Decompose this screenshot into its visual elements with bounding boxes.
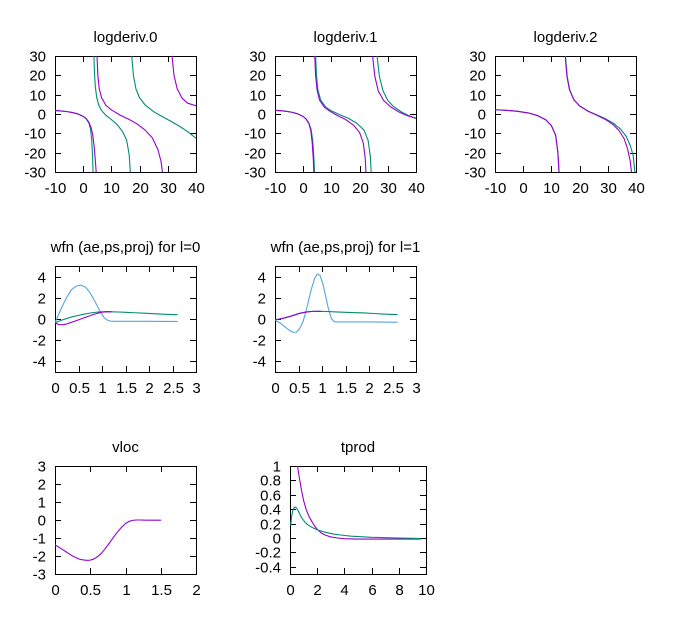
x-tick-label: -10 <box>265 180 287 197</box>
x-tick-label: 2.5 <box>163 380 184 397</box>
curve-all-electron <box>316 56 372 172</box>
y-tick-label: -2 <box>33 333 46 350</box>
curve-all-electron <box>94 56 130 172</box>
x-tick-label: 0.5 <box>289 380 310 397</box>
x-tick-label: 20 <box>132 180 149 197</box>
curve-all-electron <box>377 56 416 118</box>
y-tick-label: 20 <box>249 68 266 85</box>
x-tick-label: 0 <box>51 582 59 599</box>
plot-panel-logderiv0: logderiv.0-100102030403020100-10-20-30 <box>0 16 236 206</box>
panel-title-tprod: tprod <box>341 439 375 456</box>
y-tick-label: -20 <box>464 146 486 163</box>
x-tick-label: 20 <box>352 180 369 197</box>
y-tick-label: -3 <box>33 567 46 584</box>
x-tick-label: 30 <box>380 180 397 197</box>
y-tick-label: 20 <box>29 68 46 85</box>
curve-pseudo <box>315 56 366 172</box>
x-tick-label: 40 <box>628 180 645 197</box>
x-tick-label: 0.5 <box>80 582 101 599</box>
x-tick-label: 0 <box>271 380 279 397</box>
curves-group <box>275 56 416 172</box>
y-tick-label: 30 <box>469 49 486 66</box>
x-tick-label: 1 <box>318 380 326 397</box>
y-tick-label: -4 <box>253 354 266 371</box>
curves-group <box>291 466 421 539</box>
plot-panel-wfn0: wfn (ae,ps,proj) for l=000.511.522.53420… <box>0 226 236 406</box>
y-tick-label: 10 <box>249 88 266 105</box>
y-tick-label: 10 <box>469 88 486 105</box>
y-tick-label: 30 <box>29 49 46 66</box>
plot-panel-logderiv2: logderiv.2-100102030403020100-10-20-30 <box>440 16 676 206</box>
y-tick-label: -2 <box>253 333 266 350</box>
y-tick-label: 1 <box>38 495 46 512</box>
plot-frame <box>276 57 417 173</box>
curve-tprod-purple <box>297 466 420 539</box>
x-tick-label: 2.5 <box>383 380 404 397</box>
curves-group <box>55 520 161 560</box>
curve-all-electron <box>566 56 635 172</box>
curve-pseudo <box>172 56 196 106</box>
panel-title-wfn1: wfn (ae,ps,proj) for l=1 <box>270 239 421 256</box>
y-tick-label: 0 <box>258 107 266 124</box>
curve-all-electron <box>132 56 196 138</box>
curve-ps-wavefunction <box>55 312 111 325</box>
y-tick-label: 4 <box>258 270 266 287</box>
gnuplot-multiplot-figure: logderiv.0-100102030403020100-10-20-30lo… <box>0 0 680 620</box>
x-tick-label: 4 <box>340 582 348 599</box>
y-tick-label: -4 <box>33 354 46 371</box>
y-tick-label: 2 <box>38 477 46 494</box>
y-tick-label: 0 <box>258 312 266 329</box>
plot-frame <box>56 267 197 373</box>
y-tick-label: -20 <box>244 146 266 163</box>
plot-panel-tprod: tprod024681010.80.60.40.20-0.2-0.4 <box>235 426 466 608</box>
y-tick-label: 0 <box>38 312 46 329</box>
x-tick-label: 30 <box>600 180 617 197</box>
y-tick-label: 30 <box>249 49 266 66</box>
x-tick-label: 10 <box>418 582 435 599</box>
curves-group <box>55 56 196 172</box>
curves-group <box>495 56 635 172</box>
x-tick-label: 1.5 <box>151 582 172 599</box>
x-tick-label: 2 <box>145 380 153 397</box>
plot-frame <box>276 267 417 373</box>
x-tick-label: 1.5 <box>336 380 357 397</box>
x-tick-label: 8 <box>395 582 403 599</box>
x-tick-label: 1 <box>122 582 130 599</box>
panel-title-logderiv0: logderiv.0 <box>94 29 158 46</box>
curves-group <box>55 285 177 325</box>
panel-title-vloc: vloc <box>112 439 139 456</box>
y-tick-label: -10 <box>464 126 486 143</box>
x-tick-label: 40 <box>408 180 425 197</box>
y-tick-label: 20 <box>469 68 486 85</box>
curve-pseudo <box>495 110 559 172</box>
x-tick-label: 40 <box>188 180 205 197</box>
curves-group <box>275 274 397 332</box>
x-tick-label: 0 <box>299 180 307 197</box>
x-tick-label: 0 <box>51 380 59 397</box>
x-tick-label: 0 <box>519 180 527 197</box>
y-tick-label: -30 <box>464 165 486 182</box>
x-tick-label: 6 <box>368 582 376 599</box>
y-tick-label: 2 <box>38 291 46 308</box>
y-tick-label: 0 <box>38 513 46 530</box>
y-tick-label: -20 <box>24 146 46 163</box>
x-tick-label: 0 <box>79 180 87 197</box>
x-tick-label: 1 <box>98 380 106 397</box>
curve-pseudo <box>97 56 162 172</box>
y-tick-label: -1 <box>33 531 46 548</box>
curve-all-electron <box>275 110 314 172</box>
panel-title-logderiv2: logderiv.2 <box>534 29 598 46</box>
x-tick-label: 10 <box>543 180 560 197</box>
x-tick-label: 10 <box>323 180 340 197</box>
y-tick-label: 0 <box>38 107 46 124</box>
y-tick-label: -0.4 <box>255 560 281 577</box>
plot-panel-vloc: vloc00.511.523210-1-2-3 <box>0 426 236 608</box>
plot-frame <box>496 57 637 173</box>
y-tick-label: 10 <box>29 88 46 105</box>
x-tick-label: 30 <box>160 180 177 197</box>
curve-pseudo <box>565 56 631 172</box>
curve-ps-wavefunction <box>275 311 322 320</box>
y-tick-label: 4 <box>38 270 46 287</box>
y-tick-label: -2 <box>33 549 46 566</box>
x-tick-label: 2 <box>313 582 321 599</box>
y-tick-label: -10 <box>24 126 46 143</box>
x-tick-label: -10 <box>45 180 67 197</box>
x-tick-label: 2 <box>365 380 373 397</box>
curve-tprod-green <box>291 507 421 539</box>
x-tick-label: 3 <box>412 380 420 397</box>
x-tick-label: 3 <box>192 380 200 397</box>
y-tick-label: 2 <box>258 291 266 308</box>
plot-frame <box>56 57 197 173</box>
y-tick-label: -30 <box>24 165 46 182</box>
y-tick-label: -10 <box>244 126 266 143</box>
curve-pseudo <box>55 111 96 172</box>
x-tick-label: 2 <box>192 582 200 599</box>
x-tick-label: 1.5 <box>116 380 137 397</box>
y-tick-label: -30 <box>244 165 266 182</box>
curve-local-potential <box>55 520 161 560</box>
plot-panel-logderiv1: logderiv.1-100102030403020100-10-20-30 <box>220 16 456 206</box>
y-tick-label: 0 <box>478 107 486 124</box>
curve-all-electron <box>495 110 559 172</box>
x-tick-label: 10 <box>103 180 120 197</box>
panel-title-wfn0: wfn (ae,ps,proj) for l=0 <box>50 239 201 256</box>
y-tick-label: 3 <box>38 459 46 476</box>
x-tick-label: -10 <box>485 180 507 197</box>
plot-panel-wfn1: wfn (ae,ps,proj) for l=100.511.522.53420… <box>220 226 456 406</box>
panel-title-logderiv1: logderiv.1 <box>314 29 378 46</box>
x-tick-label: 20 <box>572 180 589 197</box>
curve-pseudo <box>373 56 416 118</box>
curve-pseudo <box>275 110 314 172</box>
curve-projector <box>275 274 397 332</box>
x-tick-label: 0 <box>286 582 294 599</box>
x-tick-label: 0.5 <box>69 380 90 397</box>
